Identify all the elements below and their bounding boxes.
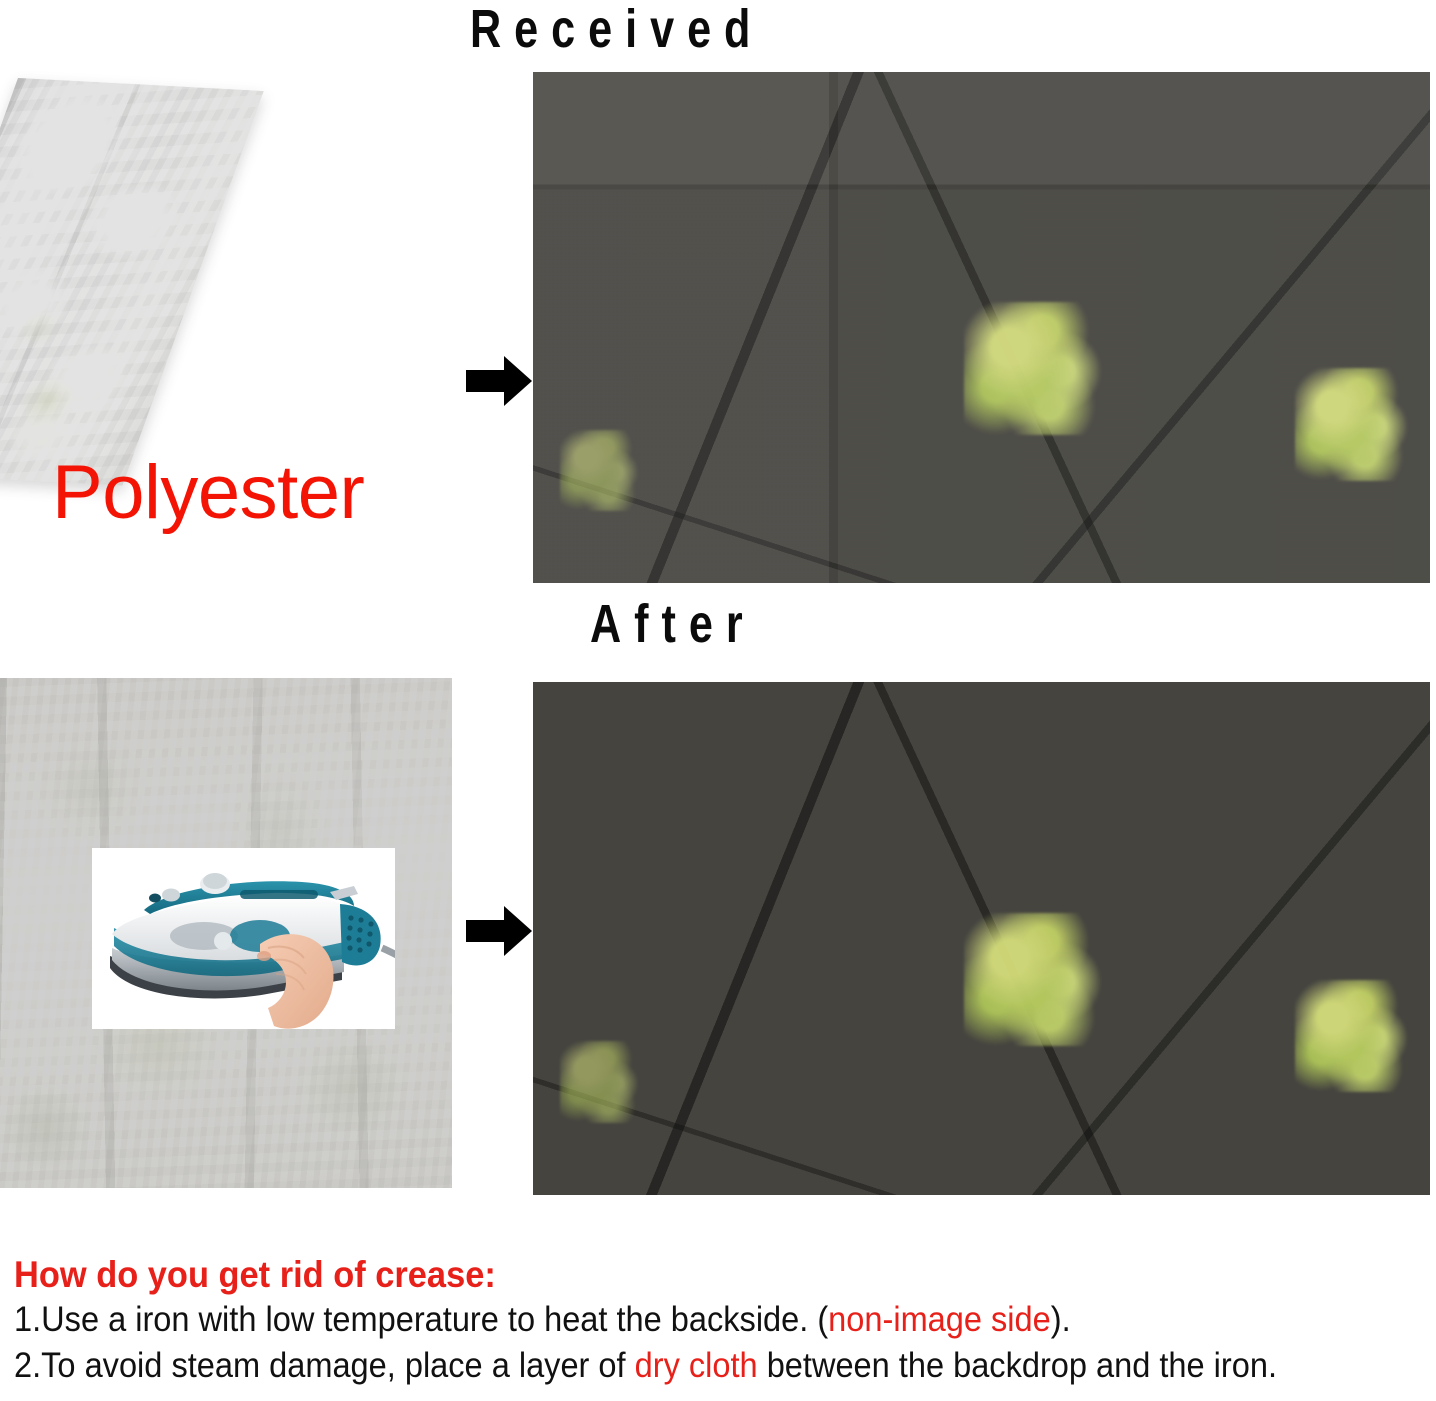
ironing-demo-card <box>92 848 395 1029</box>
step-1-highlight: non-image side <box>828 1300 1051 1339</box>
step-2-highlight: dry cloth <box>635 1346 758 1385</box>
arrow-head <box>504 906 532 956</box>
vegetation-clump <box>964 302 1108 435</box>
steam-iron-icon <box>92 848 395 1029</box>
infographic-stage: Received Polyester After <box>0 0 1436 1401</box>
step-1-number: 1. <box>14 1300 41 1339</box>
step-2-text-after: between the backdrop and the iron. <box>758 1346 1277 1385</box>
step-2-text-before: To avoid steam damage, place a layer of <box>41 1346 634 1385</box>
step-1-text-after: ). <box>1051 1300 1071 1339</box>
vegetation-clump <box>560 1041 641 1123</box>
vegetation-clump <box>1295 368 1412 480</box>
arrow-head <box>504 356 532 406</box>
arrow-shaft <box>466 920 506 942</box>
instruction-step-2: 2.To avoid steam damage, place a layer o… <box>14 1343 1327 1389</box>
folded-fabric-sample <box>0 78 264 486</box>
care-instructions: How do you get rid of crease: 1.Use a ir… <box>14 1252 1426 1388</box>
vegetation-clump <box>560 430 641 512</box>
received-backdrop-photo <box>533 72 1430 583</box>
polyester-material-label: Polyester <box>52 455 364 531</box>
vegetation-clump <box>964 913 1108 1046</box>
arrow-right-icon <box>466 906 532 956</box>
arrow-shaft <box>466 370 506 392</box>
step-1-text-before: Use a iron with low temperature to heat … <box>41 1300 828 1339</box>
instruction-step-1: 1.Use a iron with low temperature to hea… <box>14 1297 1327 1343</box>
vegetation-clump <box>1295 980 1412 1093</box>
step-2-number: 2. <box>14 1346 41 1385</box>
after-backdrop-photo <box>533 682 1430 1195</box>
arrow-right-icon <box>466 356 532 406</box>
instructions-title: How do you get rid of crease: <box>14 1252 1327 1297</box>
after-heading: After <box>590 597 756 651</box>
received-heading: Received <box>470 2 763 56</box>
